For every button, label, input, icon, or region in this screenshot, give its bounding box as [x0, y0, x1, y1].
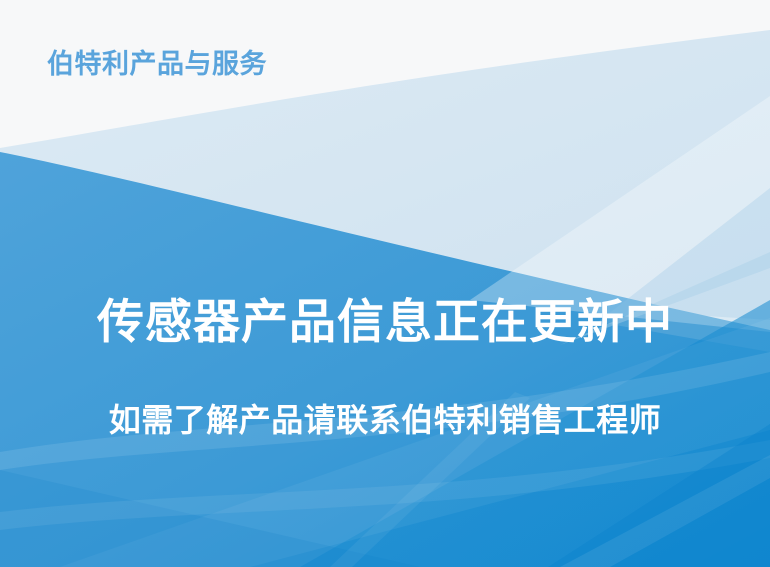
background-artwork: [0, 0, 770, 567]
headline-block: 传感器产品信息正在更新中 如需了解产品请联系伯特利销售工程师: [0, 294, 770, 440]
page-subtitle: 如需了解产品请联系伯特利销售工程师: [0, 400, 770, 440]
product-placeholder-banner: 伯特利产品与服务 传感器产品信息正在更新中 如需了解产品请联系伯特利销售工程师: [0, 0, 770, 567]
page-title: 传感器产品信息正在更新中: [0, 294, 770, 352]
brand-heading: 伯特利产品与服务: [47, 48, 267, 82]
